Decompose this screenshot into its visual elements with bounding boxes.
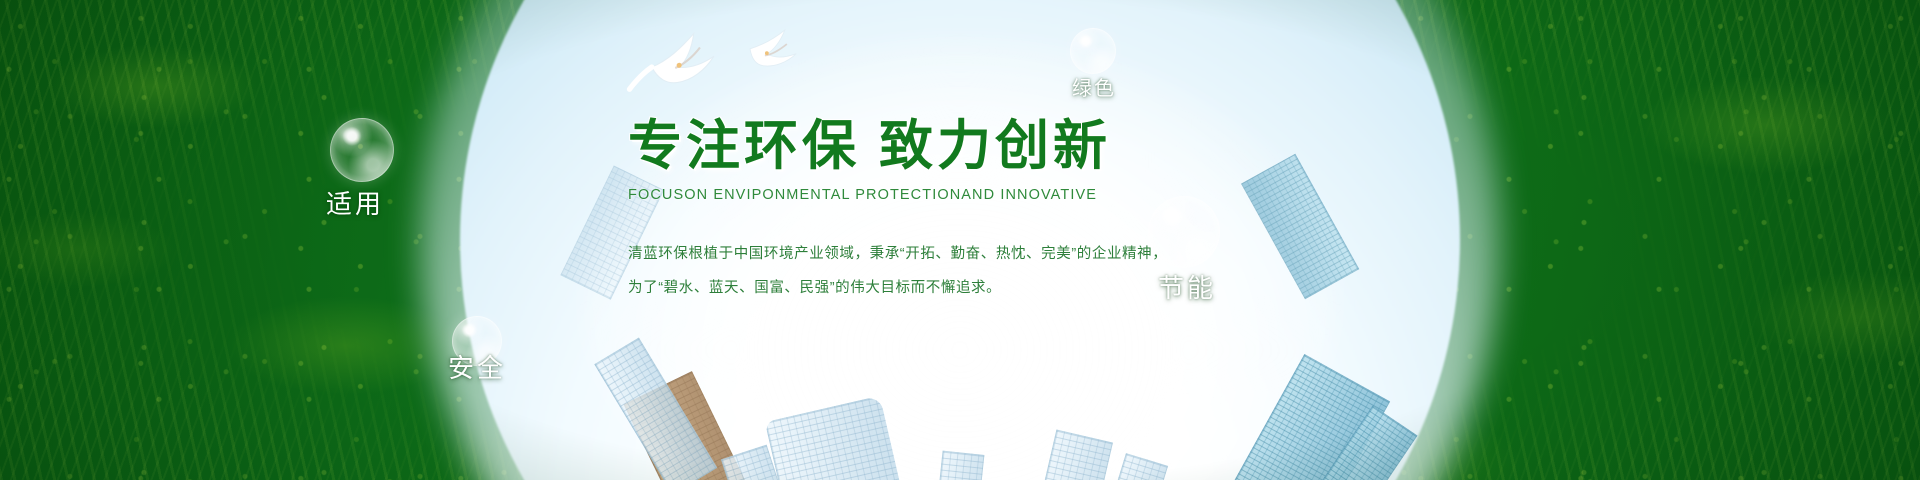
edge-vignette	[0, 0, 1920, 480]
eco-hero-banner: 适用 安全 绿色 节能 专注环保 致力创新 FOCUSON ENVIPONMEN…	[0, 0, 1920, 480]
